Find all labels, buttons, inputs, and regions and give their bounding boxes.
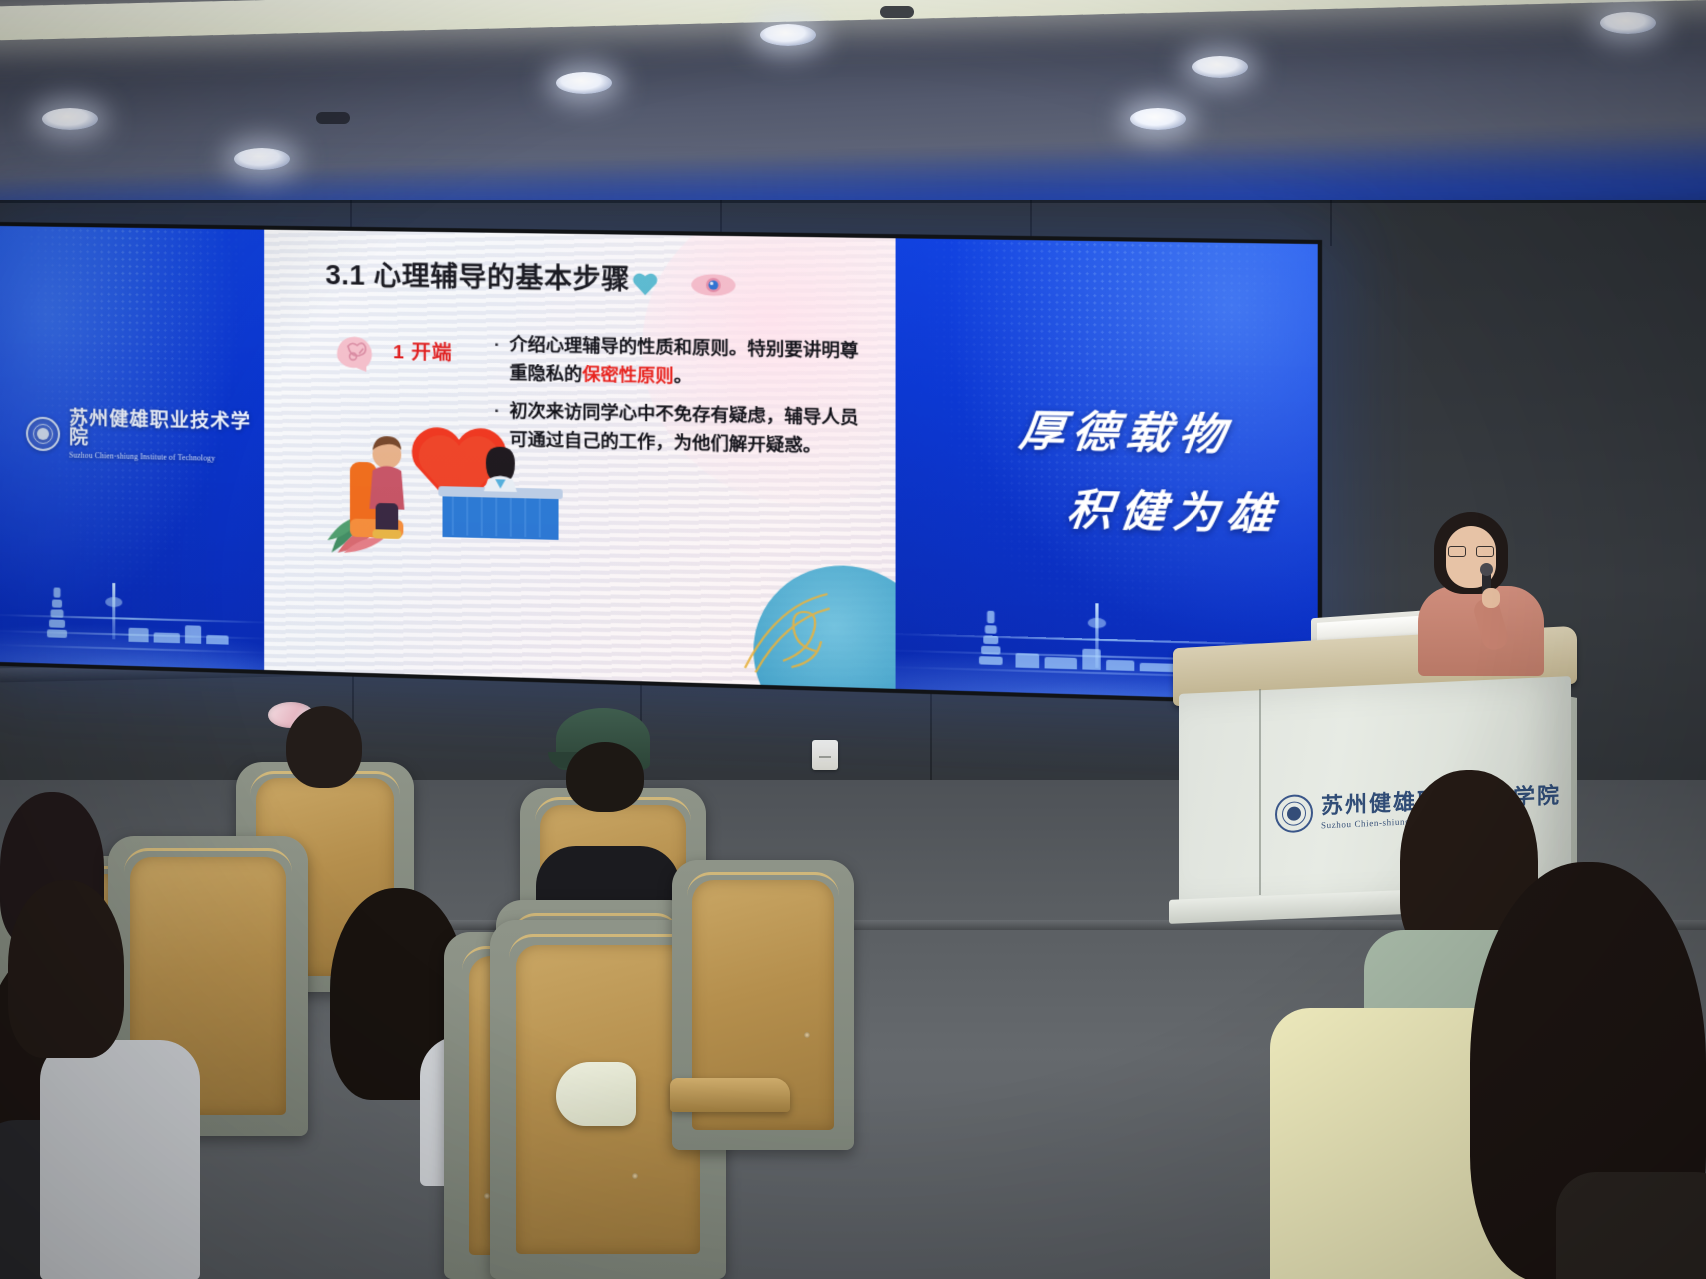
presentation-slide: 3.1 心理辅导的基本步骤 1 开端 [264, 230, 895, 689]
brand-name-cn: 苏州健雄职业技术学院 [69, 409, 264, 451]
skyline-icons [128, 624, 228, 645]
tv-tower-icon [112, 583, 115, 639]
ceiling-downlight [1600, 12, 1656, 34]
chair-screw [632, 1173, 638, 1179]
podium-panel-seam [1259, 689, 1261, 895]
bullet-highlight: 保密性原则 [582, 363, 674, 385]
ceiling-downlight [234, 148, 290, 170]
lecture-hall-scene: 苏州健雄职业技术学院 Suzhou Chien-shiung Institute… [0, 0, 1706, 1279]
pagoda-icon [977, 600, 1005, 665]
bullet-text-post: 。 [674, 365, 692, 386]
wall-socket[interactable] [812, 740, 838, 770]
screen-brand-logo: 苏州健雄职业技术学院 Suzhou Chien-shiung Institute… [26, 409, 264, 464]
audience-head [286, 706, 362, 788]
heart-icon [632, 272, 659, 297]
ceiling-downlight [1130, 108, 1186, 130]
ceiling-vent [316, 112, 350, 124]
counselor-and-client-illustration [327, 401, 564, 559]
university-seal-icon [26, 417, 60, 452]
gold-swirl-decoration [737, 565, 853, 681]
ceiling-downlight [42, 108, 98, 130]
glasses-icon [1448, 546, 1494, 557]
audience-shoulders [40, 1040, 200, 1279]
pagoda-icon [44, 575, 70, 638]
presenter-hand [1482, 588, 1500, 608]
led-screen: 苏州健雄职业技术学院 Suzhou Chien-shiung Institute… [0, 226, 1318, 702]
led-display-wall: 苏州健雄职业技术学院 Suzhou Chien-shiung Institute… [0, 226, 1318, 702]
wall-panel-line [1330, 200, 1332, 246]
head-thought-icon [332, 328, 379, 373]
bullet-item: · 介绍心理辅导的性质和原则。特别要讲明尊重隐私的保密性原则。 [494, 331, 863, 394]
audience-shoe [556, 1062, 636, 1126]
eye-icon [690, 272, 736, 297]
ceiling-vent [880, 6, 914, 18]
university-seal-icon [1275, 794, 1313, 834]
screen-left-panel: 苏州健雄职业技术学院 Suzhou Chien-shiung Institute… [0, 226, 264, 670]
ceiling-downlight [556, 72, 612, 94]
step-label: 1 开端 [393, 337, 453, 366]
chair-screw [804, 1032, 810, 1038]
audience-hair [8, 880, 124, 1058]
audience-shoulders [1556, 1172, 1706, 1279]
ceiling-downlight [1192, 56, 1248, 78]
wall-seam [0, 200, 1706, 203]
ceiling-light-strip [0, 0, 1706, 41]
audience-head [566, 742, 644, 812]
bullet-marker: · [494, 331, 500, 387]
screen-motto: 厚德载物 积健为雄 [1020, 396, 1281, 544]
presenter [1412, 512, 1560, 672]
slide-title: 3.1 心理辅导的基本步骤 [325, 253, 630, 297]
ceiling-downlight [760, 24, 816, 46]
wave-graphic [0, 512, 264, 670]
chair-armrest[interactable] [670, 1078, 790, 1112]
motto-line-2: 积健为雄 [1064, 475, 1284, 543]
motto-line-1: 厚德载物 [1016, 396, 1284, 465]
